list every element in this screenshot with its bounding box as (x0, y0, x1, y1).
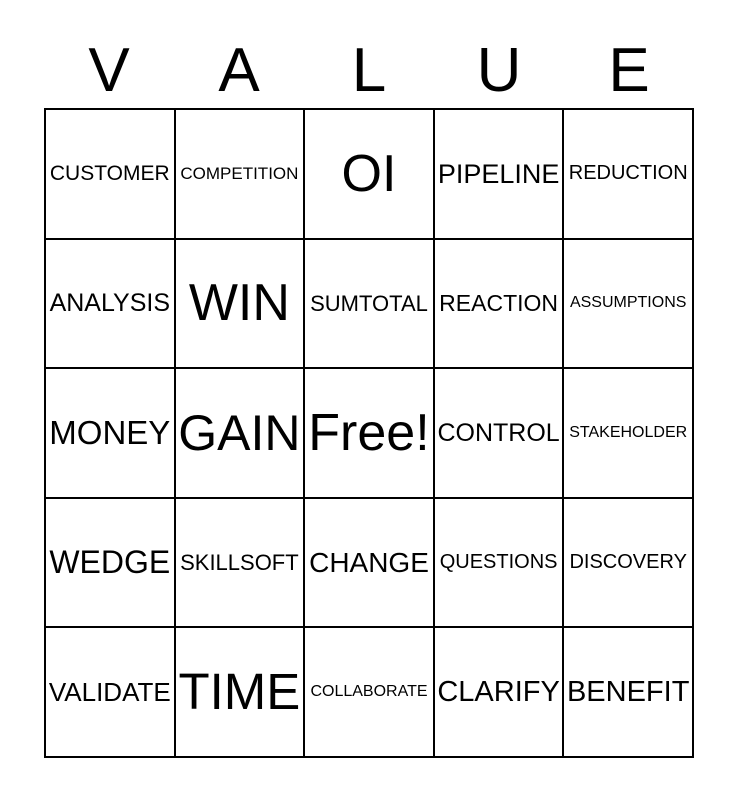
bingo-cell[interactable]: MONEY (46, 369, 176, 499)
bingo-cell[interactable]: OI (305, 110, 435, 240)
bingo-cell-label: WIN (189, 276, 290, 331)
bingo-cell[interactable]: SKILLSOFT (176, 499, 306, 629)
bingo-cell[interactable]: CONTROL (435, 369, 565, 499)
bingo-card: V A L U E CUSTOMER COMPETITION OI PIPELI… (0, 0, 736, 800)
bingo-cell[interactable]: COMPETITION (176, 110, 306, 240)
bingo-cell-label: COMPETITION (180, 165, 298, 183)
bingo-cell[interactable]: CUSTOMER (46, 110, 176, 240)
bingo-cell-label: OI (342, 147, 397, 202)
bingo-cell-label: WEDGE (49, 546, 170, 580)
bingo-cell-free-space[interactable]: Free! (305, 369, 435, 499)
bingo-cell-label: ANALYSIS (50, 290, 170, 316)
bingo-cell[interactable]: WIN (176, 240, 306, 370)
header-letter-1: V (44, 30, 174, 102)
bingo-cell[interactable]: CHANGE (305, 499, 435, 629)
bingo-free-space-label: Free! (308, 406, 429, 461)
bingo-cell-label: ASSUMPTIONS (570, 295, 686, 312)
bingo-cell[interactable]: DISCOVERY (564, 499, 694, 629)
bingo-cell[interactable]: PIPELINE (435, 110, 565, 240)
bingo-cell[interactable]: REDUCTION (564, 110, 694, 240)
bingo-header: V A L U E (44, 30, 694, 102)
bingo-cell-label: STAKEHOLDER (569, 425, 687, 442)
header-letter-5: E (564, 30, 694, 102)
bingo-cell-label: REACTION (439, 291, 558, 315)
bingo-cell-label: CHANGE (309, 548, 429, 577)
bingo-cell[interactable]: ANALYSIS (46, 240, 176, 370)
bingo-cell-label: TIME (178, 665, 300, 719)
bingo-cell-label: CONTROL (437, 420, 559, 446)
bingo-cell[interactable]: GAIN (176, 369, 306, 499)
bingo-cell[interactable]: ASSUMPTIONS (564, 240, 694, 370)
bingo-cell-label: GAIN (178, 407, 300, 460)
bingo-cell-label: MONEY (49, 416, 170, 451)
bingo-cell-label: DISCOVERY (569, 552, 686, 573)
bingo-cell[interactable]: COLLABORATE (305, 628, 435, 758)
bingo-cell-label: COLLABORATE (310, 684, 427, 701)
bingo-cell[interactable]: REACTION (435, 240, 565, 370)
bingo-grid: CUSTOMER COMPETITION OI PIPELINE REDUCTI… (44, 108, 694, 758)
bingo-cell[interactable]: STAKEHOLDER (564, 369, 694, 499)
bingo-cell-label: SUMTOTAL (310, 292, 428, 315)
bingo-cell[interactable]: QUESTIONS (435, 499, 565, 629)
bingo-cell-label: BENEFIT (567, 677, 689, 707)
bingo-cell-label: SKILLSOFT (180, 551, 299, 574)
bingo-cell[interactable]: SUMTOTAL (305, 240, 435, 370)
bingo-cell[interactable]: CLARIFY (435, 628, 565, 758)
bingo-cell[interactable]: BENEFIT (564, 628, 694, 758)
bingo-cell[interactable]: WEDGE (46, 499, 176, 629)
bingo-cell-label: REDUCTION (569, 163, 688, 184)
bingo-cell-label: CLARIFY (437, 677, 559, 707)
bingo-cell-label: VALIDATE (49, 679, 171, 706)
bingo-cell[interactable]: TIME (176, 628, 306, 758)
header-letter-3: L (304, 30, 434, 102)
bingo-cell-label: CUSTOMER (50, 163, 170, 185)
header-letter-4: U (434, 30, 564, 102)
bingo-cell-label: QUESTIONS (440, 552, 558, 573)
bingo-cell[interactable]: VALIDATE (46, 628, 176, 758)
header-letter-2: A (174, 30, 304, 102)
bingo-cell-label: PIPELINE (438, 160, 560, 188)
